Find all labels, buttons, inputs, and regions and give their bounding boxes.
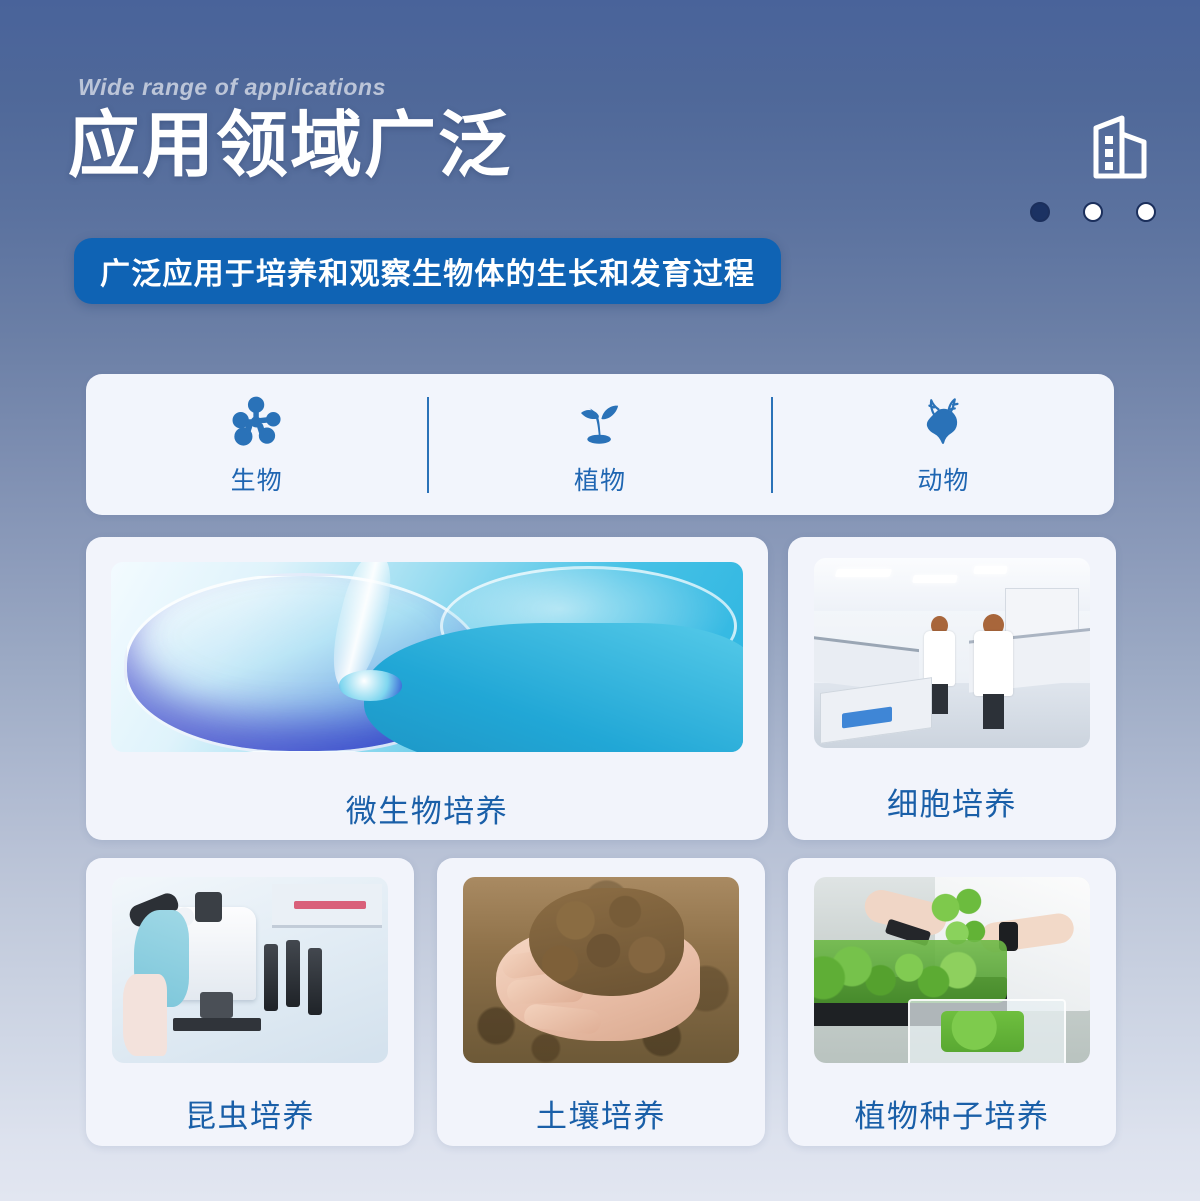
- promo-page: Wide range of applications 应用领域广泛 广泛应用于培…: [0, 0, 1200, 1201]
- deer-icon: [914, 393, 972, 451]
- petri-dish-pipette-photo: [111, 562, 743, 752]
- card-label: 植物种子培养: [855, 1091, 1050, 1136]
- category-bar: 生物 植物: [86, 374, 1114, 515]
- category-item-plant[interactable]: 植物: [429, 374, 770, 515]
- laboratory-interior-photo: [814, 558, 1090, 748]
- sprout-icon: [571, 393, 629, 451]
- header-banner-text: 广泛应用于培养和观察生物体的生长和发育过程: [100, 249, 755, 293]
- category-label: 植物: [574, 461, 626, 497]
- card-label: 昆虫培养: [185, 1091, 315, 1136]
- application-card[interactable]: 土壤培养: [437, 858, 765, 1146]
- card-label: 细胞培养: [887, 779, 1017, 824]
- header-banner: 广泛应用于培养和观察生物体的生长和发育过程: [74, 238, 781, 304]
- application-card[interactable]: 细胞培养: [788, 537, 1116, 840]
- building-icon: [1086, 112, 1154, 182]
- category-label: 动物: [917, 461, 969, 497]
- category-label: 生物: [231, 461, 283, 497]
- application-card[interactable]: 微生物培养: [86, 537, 768, 840]
- card-label: 土壤培养: [536, 1091, 666, 1136]
- microscope-photo: [112, 877, 388, 1063]
- carousel-dot-2[interactable]: [1083, 202, 1103, 222]
- application-card[interactable]: 昆虫培养: [86, 858, 414, 1146]
- seedling-trays-photo: [814, 877, 1090, 1063]
- page-header: Wide range of applications 应用领域广泛 广泛应用于培…: [0, 0, 1200, 360]
- carousel-dots[interactable]: [1030, 200, 1156, 224]
- category-item-animal[interactable]: 动物: [773, 374, 1114, 515]
- card-label: 微生物培养: [346, 786, 509, 831]
- hand-holding-soil-photo: [463, 877, 739, 1063]
- category-item-biology[interactable]: 生物: [86, 374, 427, 515]
- carousel-dot-3[interactable]: [1136, 202, 1156, 222]
- application-card[interactable]: 植物种子培养: [788, 858, 1116, 1146]
- header-eyebrow: Wide range of applications: [78, 74, 386, 101]
- carousel-dot-1[interactable]: [1030, 202, 1050, 222]
- microbe-icon: [228, 393, 286, 451]
- page-title: 应用领域广泛: [68, 104, 512, 189]
